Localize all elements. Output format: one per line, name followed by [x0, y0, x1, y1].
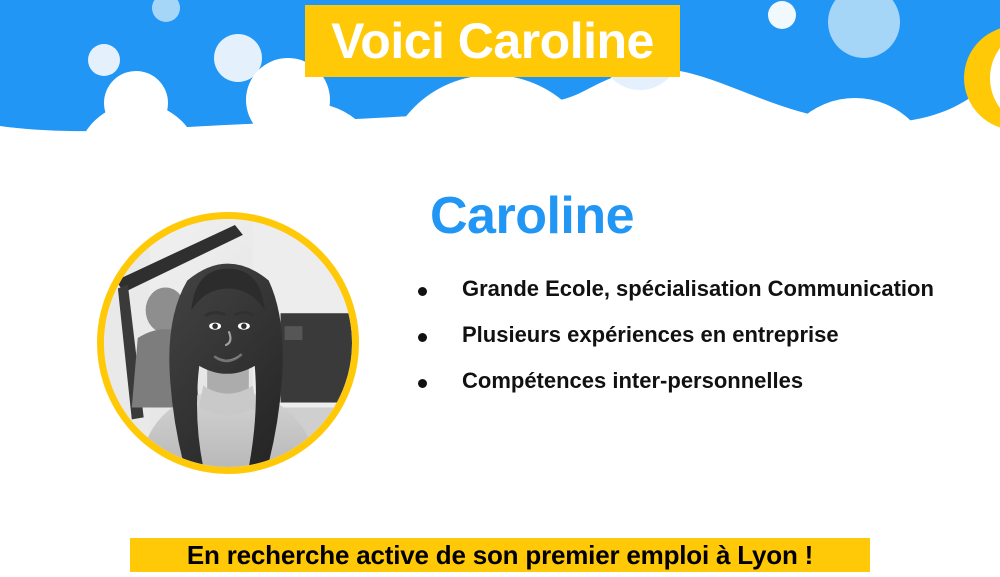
avatar: [97, 212, 359, 474]
person-name: Caroline: [430, 186, 634, 246]
list-item: Compétences inter-personnelles: [418, 368, 998, 394]
page-title: Voici Caroline: [305, 5, 680, 77]
list-item: Plusieurs expériences en entreprise: [418, 322, 998, 348]
bullet-dot-icon: [418, 333, 427, 342]
highlights-list: Grande Ecole, spécialisation Communicati…: [418, 276, 998, 414]
list-item-label: Plusieurs expériences en entreprise: [462, 322, 839, 348]
slide-canvas: Voici Caroline: [0, 0, 1000, 577]
footer-banner: En recherche active de son premier emplo…: [130, 538, 870, 572]
list-item-label: Compétences inter-personnelles: [462, 368, 803, 394]
bullet-dot-icon: [418, 287, 427, 296]
list-item: Grande Ecole, spécialisation Communicati…: [418, 276, 998, 302]
portrait-photo-caroline: [104, 219, 352, 467]
footer-banner-text: En recherche active de son premier emplo…: [187, 540, 813, 571]
list-item-label: Grande Ecole, spécialisation Communicati…: [462, 276, 934, 302]
bullet-dot-icon: [418, 379, 427, 388]
